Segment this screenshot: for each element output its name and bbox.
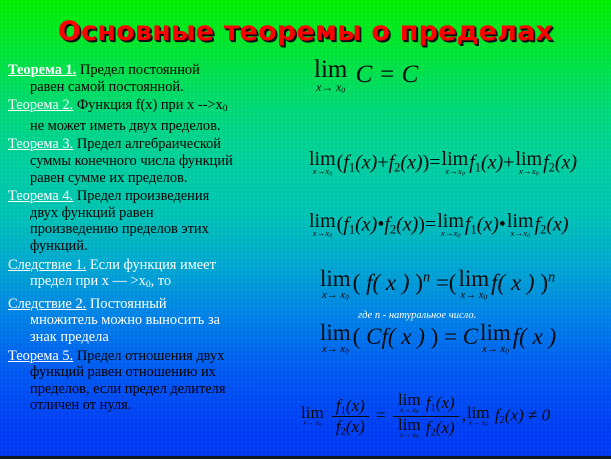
lim-point-sub: 0 [536, 171, 539, 177]
function-f-arg: ( x ) [372, 270, 409, 295]
lim-operator: lim x→ x0 [301, 405, 324, 429]
statement-theorem-4: Теорема 4. Предел произведения двух функ… [8, 188, 304, 254]
statement-body-text: Если функция имеет [90, 257, 216, 273]
arrow-glyph: → [316, 228, 325, 238]
arrow-glyph: → [465, 289, 476, 301]
constant-c: C [366, 324, 381, 349]
function-f2-arg: (x) [505, 406, 524, 425]
statement-line: Теорема 3. Предел алгебраической [8, 136, 304, 153]
lim-point-sub: 0 [485, 423, 487, 428]
function-f-arg: ( x ) [388, 324, 425, 349]
statement-line: знак предела [8, 329, 304, 346]
lim-point-sub: 0 [345, 293, 349, 301]
fraction-numerator: f1(x) [332, 396, 369, 417]
lim-operator: lim x→x0 [309, 150, 336, 178]
lim-operator: lim x→x0 [442, 150, 469, 178]
plus-sign: + [377, 152, 388, 174]
arrow-glyph: → [321, 81, 333, 94]
lim-operator: lim x→ x0 [320, 322, 351, 356]
formula-constant-multiple: lim x→ x0 ( Cf( x ) ) = C lim x→ x0 f( x… [318, 322, 556, 356]
lim-operator: limx→ x0 [398, 417, 421, 441]
statement-theorem-1: Теорема 1. Предел постоянной равен самой… [8, 62, 304, 95]
statement-header: Теорема 4. [8, 188, 73, 204]
lim-point-sub: 0 [505, 347, 509, 355]
constant-c: C [463, 324, 478, 349]
zero-value: 0 [542, 406, 551, 425]
paren-close: ) [535, 270, 548, 295]
lim-point-sub: 0 [319, 423, 321, 428]
lim-subscript: x→x0 [515, 167, 542, 178]
lim-subscript: x→ x0 [398, 431, 421, 441]
statement-line: не может иметь двух пределов. [8, 118, 304, 135]
lim-point-sub: 0 [462, 171, 465, 177]
formula-limit-of-quotient: lim x→ x0 f1(x) f2(x) = limx→ x0 f1(x) l… [300, 392, 550, 441]
subscript-zero: 0 [223, 104, 228, 114]
statement-header: Следствие 2. [8, 296, 86, 312]
statement-body-text: Предел произведения [77, 188, 209, 204]
lim-point-sub: 0 [329, 233, 332, 239]
lim-label: lim [314, 58, 347, 83]
paren-close: ) [425, 324, 438, 349]
fraction-denominator: limx→ x0 f2(x) [393, 416, 459, 441]
arrow-glyph: → [403, 405, 410, 414]
lim-subscript: x→ x0 [301, 419, 324, 429]
lim-point-sub: 0 [457, 233, 460, 239]
statement-line: Следствие 1. Если функция имеет [8, 257, 304, 274]
title-bar: Основные теоремы о пределах [0, 16, 611, 47]
statement-line: Следствие 2. Постоянный [8, 296, 304, 313]
not-equal-sign: ≠ [528, 406, 537, 425]
lim-operator: lim x→ x0 [320, 268, 351, 302]
equals-sign: = [436, 270, 449, 295]
arrow-glyph: → [316, 166, 325, 176]
lim-subscript: x→x0 [442, 167, 469, 178]
function-f-arg: ( x ) [519, 324, 556, 349]
statement-body-text: Предел отношения двух [77, 348, 225, 364]
lim-operator: lim x→ x0 [458, 268, 489, 302]
equals-sign: = [444, 324, 457, 349]
arrow-glyph: → [327, 343, 338, 355]
lim-subscript: x→x0 [437, 229, 464, 240]
fraction-f1-over-f2: f1(x) f2(x) [332, 396, 369, 438]
formula-body: C = C [356, 61, 419, 88]
statement-line: суммы конечного числа функций [8, 153, 304, 170]
lim-subscript: x→x0 [309, 229, 336, 240]
statement-body-fragment: , то [151, 273, 172, 289]
lim-operator: lim x→x0 [515, 150, 542, 178]
arrow-glyph: → [327, 289, 338, 301]
function-f1-arg: (x) [355, 152, 377, 174]
statement-line: Теорема 1. Предел постоянной [8, 62, 304, 79]
function-f2-arg: (x) [546, 214, 568, 236]
lim-operator: lim x→x0 [309, 212, 336, 240]
statement-line: Теорема 5. Предел отношения двух [8, 348, 304, 365]
formula-limit-of-product: lim x→x0 (f1(x)•f2(x))= lim x→x0 f1(x)• … [308, 212, 569, 240]
lim-point-sub: 0 [329, 171, 332, 177]
lim-subscript: x→x0 [507, 229, 534, 240]
statement-body-fragment: Функция f(x) при х -->х [77, 97, 223, 113]
formula-note-natural-number: где n - натуральное число. [358, 310, 476, 321]
lim-label: lim [320, 268, 351, 291]
paren-close: ) [418, 214, 425, 236]
comma-separator: , [462, 406, 466, 425]
statement-line: множитель можно выносить за [8, 312, 304, 329]
statement-body-text: Постоянный [90, 296, 167, 312]
lim-point-sub: 0 [484, 293, 488, 301]
arrow-glyph: → [472, 418, 479, 427]
formula-limit-of-sum: lim x→x0 (f1(x)+f2(x))= lim x→x0 f1(x)+ … [308, 150, 577, 178]
lim-subscript: x→ x0 [314, 82, 347, 95]
statement-line: двух функций равен [8, 205, 304, 222]
arrow-glyph: → [487, 343, 498, 355]
lim-operator: lim x→ x0 [467, 405, 490, 429]
lim-subscript: x→ x0 [458, 290, 489, 302]
fraction-denominator: f2(x) [332, 416, 369, 438]
equals-sign: = [429, 152, 440, 174]
lim-point-sub: 0 [527, 233, 530, 239]
statement-line: отличен от нуля. [8, 397, 304, 414]
function-f2-arg: (x) [555, 152, 577, 174]
statement-line: Теорема 2. Функция f(x) при х -->х0 [8, 97, 304, 118]
statement-corollary-2: Следствие 2. Постоянный множитель можно … [8, 296, 304, 346]
statement-line: равен сумме их пределов. [8, 170, 304, 187]
statement-line: произведению пределов этих [8, 221, 304, 238]
lim-operator: lim x→x0 [437, 212, 464, 240]
lim-point-sub: 0 [345, 347, 349, 355]
statement-line: функций. [8, 238, 304, 255]
paren-open: ( [353, 324, 366, 349]
statement-line: предел при х — >х0, то [8, 273, 304, 294]
statement-header: Теорема 1. [8, 62, 76, 78]
function-f1-arg: (x) [355, 214, 377, 236]
statement-line: функций равен отношению их [8, 364, 304, 381]
exponent-n: n [423, 269, 430, 285]
statement-body-text: Предел алгебраической [77, 136, 221, 152]
statement-theorem-3: Теорема 3. Предел алгебраической суммы к… [8, 136, 304, 186]
statement-header: Следствие 1. [8, 257, 86, 273]
statement-body-fragment: предел при х — >х [30, 273, 146, 289]
arrow-glyph: → [445, 228, 454, 238]
statement-theorem-2: Теорема 2. Функция f(x) при х -->х0 не м… [8, 97, 304, 134]
lim-label: lim [458, 268, 489, 291]
paren-close: ) [410, 270, 423, 295]
lim-operator: lim x→x0 [507, 212, 534, 240]
statement-line: равен самой постоянной. [8, 79, 304, 96]
lim-subscript: x→ x0 [480, 344, 511, 356]
slide-canvas: Основные теоремы о пределах Теорема 1. П… [0, 0, 611, 459]
function-f2-arg: (x) [436, 418, 455, 437]
lim-operator: limx→ x0 [398, 392, 421, 416]
function-f2-arg: (x) [346, 417, 365, 436]
lim-subscript: x→ x0 [320, 290, 351, 302]
exponent-n: n [548, 269, 555, 285]
lim-subscript: x→x0 [309, 167, 336, 178]
function-f-arg: ( x ) [498, 270, 535, 295]
statement-header: Теорема 5. [8, 348, 73, 364]
statement-line: Теорема 4. Предел произведения [8, 188, 304, 205]
lim-subscript: x→ x0 [320, 344, 351, 356]
statement-header: Теорема 3. [8, 136, 73, 152]
lim-point-sub: 0 [341, 85, 345, 94]
paren-open: ( [449, 270, 457, 295]
function-f1-arg: (x) [346, 396, 365, 415]
function-f2-arg: (x) [400, 152, 422, 174]
product-dot: • [499, 214, 506, 236]
lim-operator: lim x→ x0 [314, 58, 347, 94]
function-f1-arg: (x) [436, 393, 455, 412]
lim-point-sub: 0 [416, 435, 418, 440]
slide-title: Основные теоремы о пределах [58, 16, 553, 47]
formula-limit-of-power: lim x→ x0 ( f( x ) )n =( lim x→ x0 f( x … [318, 268, 555, 302]
formula-limit-of-constant: lim x→ x0 C = C [312, 58, 418, 94]
statement-header: Теорема 2. [8, 97, 73, 113]
statements-column: Теорема 1. Предел постоянной равен самой… [8, 62, 304, 416]
statement-corollary-1: Следствие 1. Если функция имеет предел п… [8, 257, 304, 294]
arrow-glyph: → [306, 418, 313, 427]
paren-open: ( [353, 270, 366, 295]
lim-label: lim [320, 322, 351, 345]
fraction-numerator: limx→ x0 f1(x) [393, 392, 459, 416]
statement-line: пределов, если предел делителя [8, 381, 304, 398]
equals-sign: = [376, 406, 386, 425]
statement-body-text: Предел постоянной [80, 62, 200, 78]
arrow-glyph: → [514, 228, 523, 238]
statement-body-text: Функция f(x) при х -->х0 [77, 97, 228, 113]
arrow-glyph: → [403, 430, 410, 439]
fraction-limits-quotient: limx→ x0 f1(x) limx→ x0 f2(x) [393, 392, 459, 441]
arrow-glyph: → [523, 166, 532, 176]
function-f1-arg: (x) [477, 214, 499, 236]
lim-operator: lim x→ x0 [480, 322, 511, 356]
function-f1-arg: (x) [481, 152, 503, 174]
arrow-glyph: → [449, 166, 458, 176]
lim-subscript: x→ x0 [467, 419, 490, 429]
statement-theorem-5: Теорема 5. Предел отношения двух функций… [8, 348, 304, 414]
function-f2-arg: (x) [396, 214, 418, 236]
plus-sign: + [503, 152, 514, 174]
equals-sign: = [425, 214, 436, 236]
lim-label: lim [480, 322, 511, 345]
